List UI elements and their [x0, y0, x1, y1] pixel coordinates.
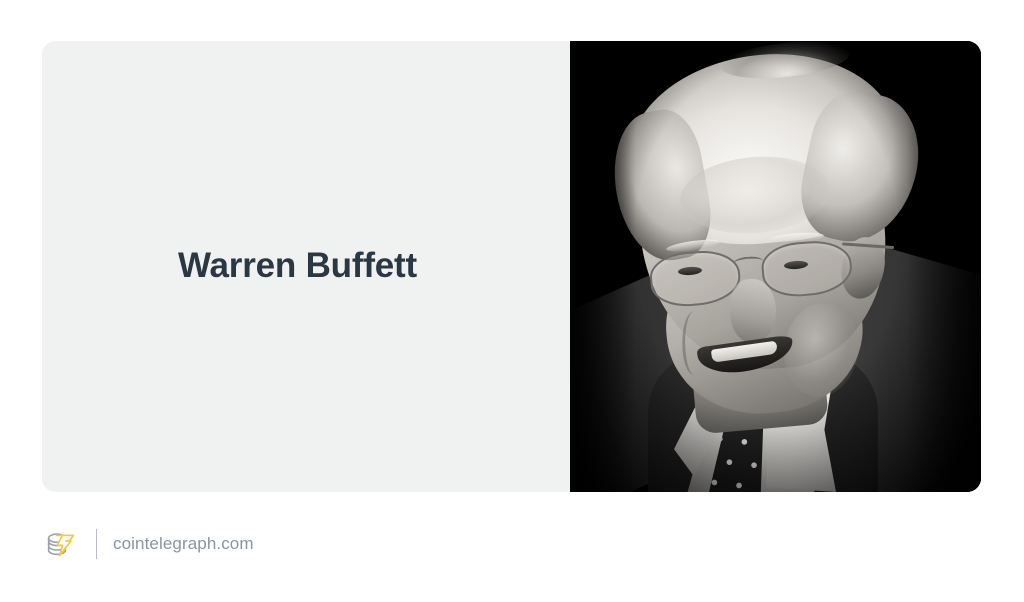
portrait-panel [570, 41, 981, 492]
eyeglass-lens-right-shape [760, 238, 854, 300]
eyeglass-temple-shape [842, 242, 894, 249]
footer-divider [96, 529, 97, 559]
teeth-shape [711, 341, 778, 363]
eyeglass-lens-left-shape [648, 248, 742, 310]
footer-domain-label[interactable]: cointelegraph.com [113, 534, 254, 554]
page-title: Warren Buffett [178, 246, 417, 286]
title-panel: Warren Buffett [42, 41, 570, 492]
cointelegraph-logo-icon[interactable] [42, 525, 80, 563]
eyeglass-bridge-shape [733, 256, 764, 270]
hero-card: Warren Buffett [42, 41, 981, 492]
footer: cointelegraph.com [42, 524, 254, 564]
portrait-photo [570, 41, 981, 492]
